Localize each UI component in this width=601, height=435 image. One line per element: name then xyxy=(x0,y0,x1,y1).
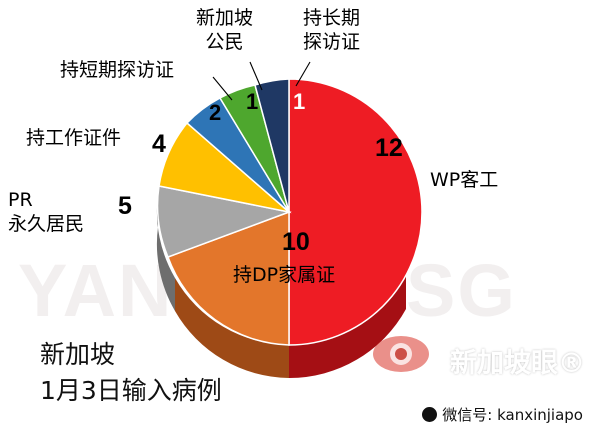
label-workpass: 持工作证件 xyxy=(26,126,121,150)
wechat-text: 微信号: kanxinjiapo xyxy=(442,404,583,425)
value-workpass: 4 xyxy=(152,130,166,159)
value-shortterm: 2 xyxy=(209,100,221,126)
wechat-icon xyxy=(422,407,437,422)
label-shortterm: 持短期探访证 xyxy=(60,58,174,82)
pie-slices xyxy=(158,79,422,345)
wechat-handle: 微信号: kanxinjiapo xyxy=(422,404,583,425)
chart-title: 新加坡 1月3日输入病例 xyxy=(40,337,222,409)
brand-name: 新加坡眼® xyxy=(450,341,585,380)
value-wp: 12 xyxy=(375,134,403,163)
label-citizen: 新加坡 公民 xyxy=(196,6,253,54)
value-dp: 10 xyxy=(282,228,310,257)
value-citizen: 1 xyxy=(246,89,258,115)
label-dp: 持DP家属证 xyxy=(233,263,335,287)
label-wp: WP客工 xyxy=(430,168,498,192)
chart-canvas: YAN O SG xyxy=(0,0,601,435)
label-pr: PR 永久居民 xyxy=(8,188,84,236)
value-longterm: 1 xyxy=(293,89,305,115)
brand-eye-logo xyxy=(373,336,429,372)
label-longterm: 持长期 探访证 xyxy=(303,6,360,54)
value-pr: 5 xyxy=(118,192,132,221)
